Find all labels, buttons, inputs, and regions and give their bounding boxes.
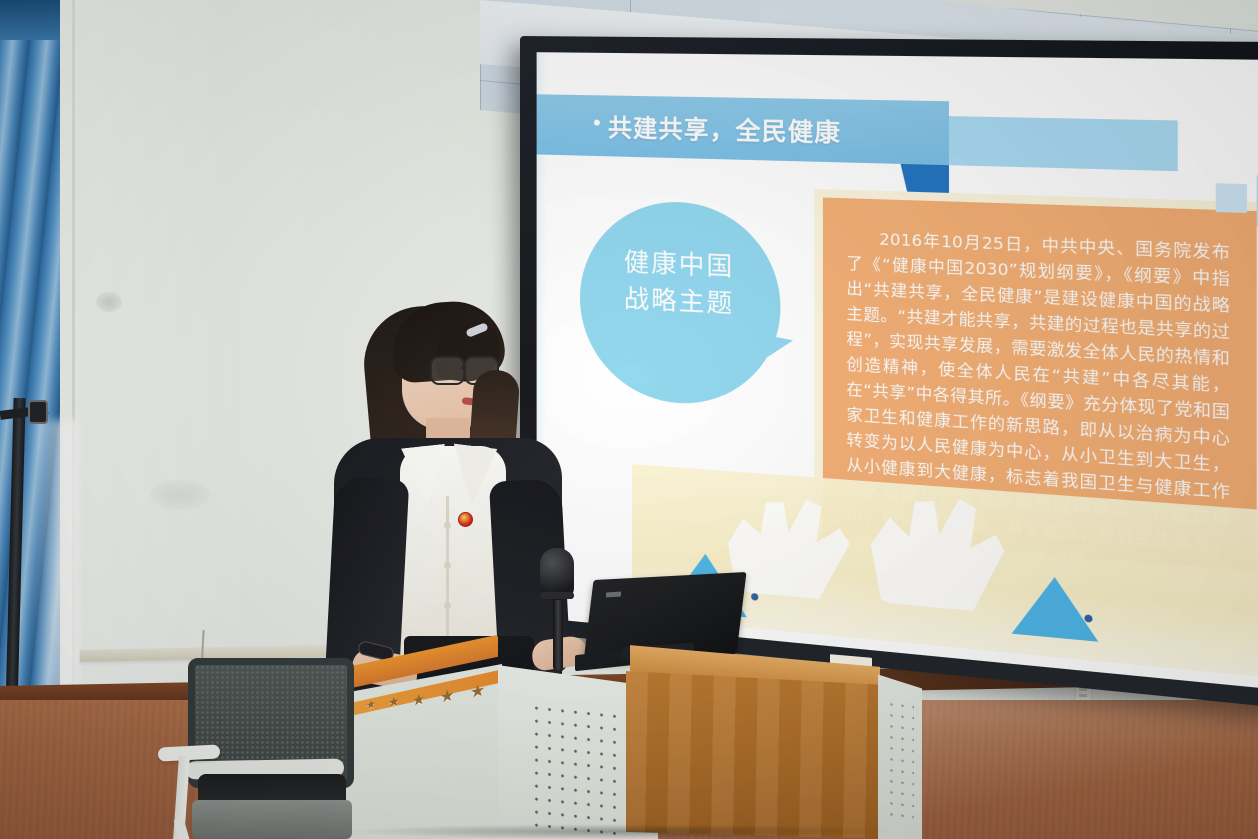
shirt-button bbox=[444, 522, 451, 529]
wall-smudge-secondary bbox=[150, 480, 210, 510]
party-emblem-pin bbox=[458, 512, 473, 527]
podium-right-perforation bbox=[886, 698, 914, 821]
star-icon: ★ bbox=[440, 687, 454, 706]
curtain-header bbox=[0, 0, 60, 40]
decorative-square-blue-small bbox=[1216, 183, 1247, 213]
shirt-button bbox=[444, 562, 451, 569]
slide-banner-fold bbox=[901, 164, 949, 195]
slide-banner-light-strip bbox=[949, 116, 1178, 171]
star-icon: ★ bbox=[412, 691, 425, 709]
star-icon: ★ bbox=[470, 682, 485, 702]
podium-wood-front bbox=[626, 664, 884, 839]
speech-bubble-tail bbox=[734, 329, 793, 382]
microphone-collar bbox=[540, 592, 574, 599]
laptop-brand-logo bbox=[606, 592, 621, 598]
shirt-button bbox=[444, 602, 451, 609]
star-icon: ★ bbox=[388, 695, 400, 711]
wall-smudge bbox=[96, 292, 122, 312]
eyeglasses-bridge bbox=[461, 366, 466, 369]
eyeglasses-left-lens bbox=[430, 356, 465, 385]
lecture-podium: ★ ★ ★ ★ ★ bbox=[330, 628, 920, 839]
slide-dot-marker-right bbox=[1084, 614, 1092, 622]
podium-speaker-perforation bbox=[530, 701, 626, 839]
slide-dot-marker-left bbox=[751, 593, 758, 601]
chair-seat bbox=[192, 800, 352, 839]
blue-triangle-right bbox=[1012, 573, 1099, 641]
wall-panel-left bbox=[56, 0, 238, 700]
mesh-office-chair bbox=[158, 640, 368, 839]
presentation-room-photo: 共建共享，全民健康 健康中国 战略主题 2016年10月25日，中共中央、国务院… bbox=[0, 0, 1258, 839]
podium-floor-shadow bbox=[340, 824, 900, 839]
stand-adjust-knob[interactable] bbox=[28, 400, 48, 424]
bullet-dot-icon bbox=[594, 120, 600, 126]
